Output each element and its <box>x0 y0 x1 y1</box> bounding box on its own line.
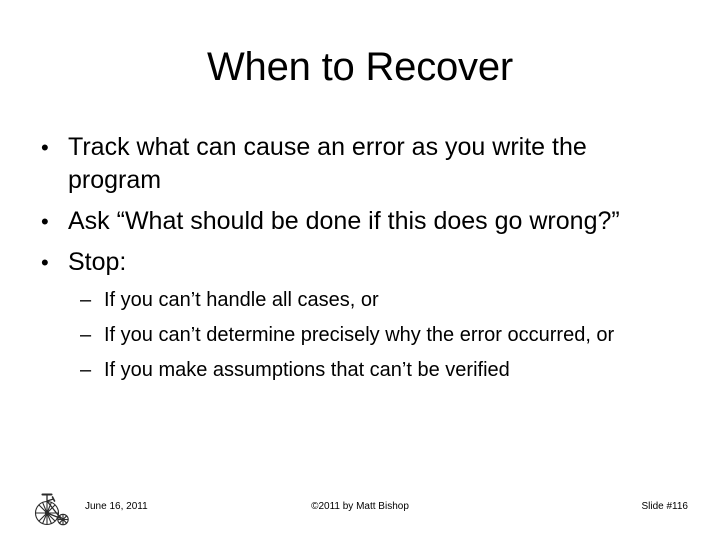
presentation-slide: When to Recover • Track what can cause a… <box>0 0 720 540</box>
bullet-item: • Ask “What should be done if this does … <box>36 205 696 238</box>
dash-marker-icon: – <box>80 287 104 313</box>
bullet-text: Track what can cause an error as you wri… <box>68 131 638 197</box>
dash-marker-icon: – <box>80 322 104 348</box>
bullet-marker-icon: • <box>36 205 68 238</box>
sub-bullet-item: – If you can’t handle all cases, or <box>36 287 696 313</box>
slide-title: When to Recover <box>0 44 720 90</box>
footer-copyright: ©2011 by Matt Bishop <box>0 501 720 513</box>
sub-bullet-text: If you make assumptions that can’t be ve… <box>104 357 696 383</box>
sub-bullet-text: If you can’t handle all cases, or <box>104 287 696 313</box>
slide-body: • Track what can cause an error as you w… <box>36 131 696 392</box>
bullet-item: • Track what can cause an error as you w… <box>36 131 696 197</box>
sub-bullet-group: – If you can’t handle all cases, or – If… <box>36 287 696 383</box>
bullet-text: Stop: <box>68 246 638 279</box>
sub-bullet-item: – If you make assumptions that can’t be … <box>36 357 696 383</box>
sub-bullet-item: – If you can’t determine precisely why t… <box>36 322 696 348</box>
slide-footer: June 16, 2011 ©2011 by Matt Bishop Slide… <box>0 484 720 540</box>
sub-bullet-text: If you can’t determine precisely why the… <box>104 322 696 348</box>
bullet-text: Ask “What should be done if this does go… <box>68 205 638 238</box>
bullet-marker-icon: • <box>36 131 68 164</box>
footer-slide-number: Slide #116 <box>641 501 688 513</box>
bullet-marker-icon: • <box>36 246 68 279</box>
bullet-item: • Stop: <box>36 246 696 279</box>
dash-marker-icon: – <box>80 357 104 383</box>
